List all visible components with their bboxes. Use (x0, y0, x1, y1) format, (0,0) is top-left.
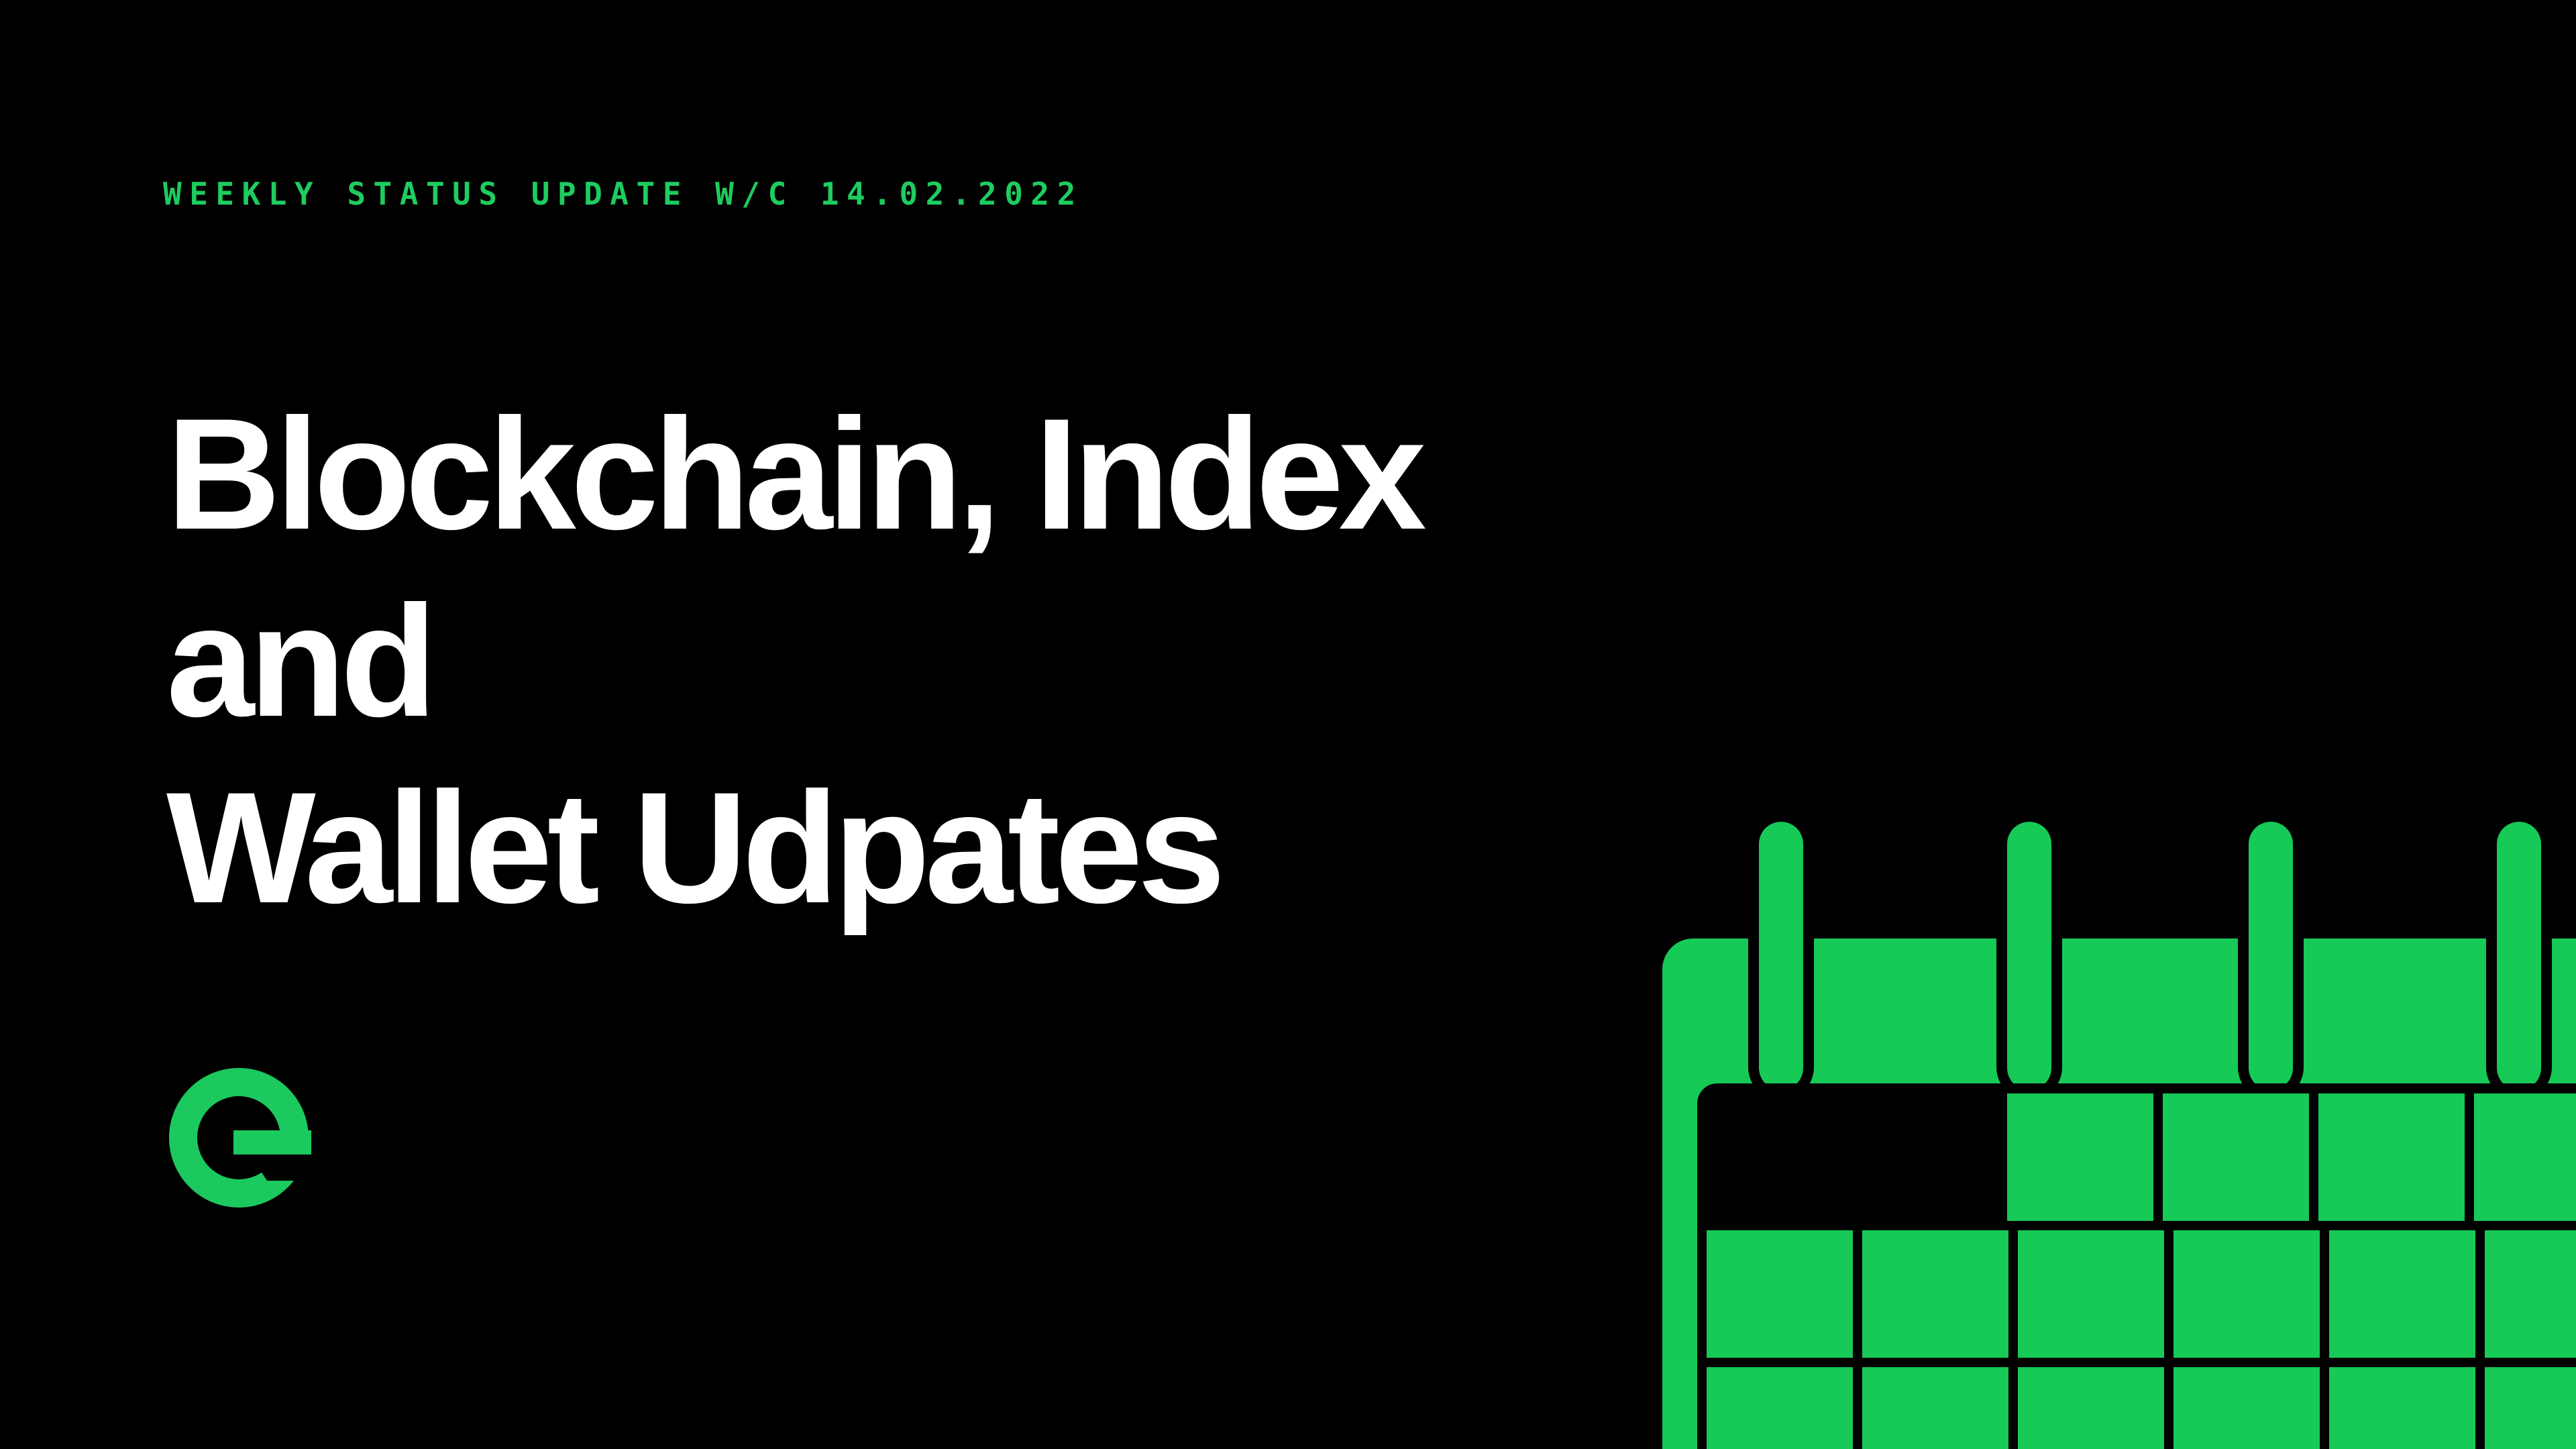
page-title: Blockchain, Index and Wallet Udpates (166, 381, 1709, 941)
calendar-cell (1862, 1367, 2008, 1449)
calendar-cell (1707, 1367, 1853, 1449)
calendar-cell (2318, 1093, 2465, 1221)
calendar-ring-1 (1759, 822, 1803, 1090)
slide-canvas: WEEKLY STATUS UPDATE W/C 14.02.2022 Bloc… (0, 0, 2576, 1449)
calendar-illustration (1630, 798, 2576, 1449)
calendar-cell (2173, 1367, 2320, 1449)
calendar-cell (2173, 1230, 2320, 1358)
eyebrow-label: WEEKLY STATUS UPDATE W/C 14.02.2022 (163, 178, 1083, 209)
energi-e-logo (166, 1065, 311, 1210)
calendar-cell (2485, 1367, 2576, 1449)
calendar-cell (1707, 1230, 1853, 1358)
calendar-ring-4 (2497, 822, 2541, 1090)
calendar-icon (1630, 798, 2576, 1449)
calendar-ring-3 (2249, 822, 2293, 1090)
calendar-cell (2329, 1367, 2475, 1449)
calendar-cell (2163, 1093, 2309, 1221)
calendar-cell (2018, 1230, 2164, 1358)
calendar-cell (2329, 1230, 2475, 1358)
calendar-cell (2007, 1093, 2153, 1221)
calendar-cell (2474, 1093, 2576, 1221)
calendar-cell (2018, 1367, 2164, 1449)
calendar-ring-2 (2007, 822, 2051, 1090)
calendar-cell (2485, 1230, 2576, 1358)
letter-e-icon (166, 1065, 311, 1210)
calendar-cell (1862, 1230, 2008, 1358)
